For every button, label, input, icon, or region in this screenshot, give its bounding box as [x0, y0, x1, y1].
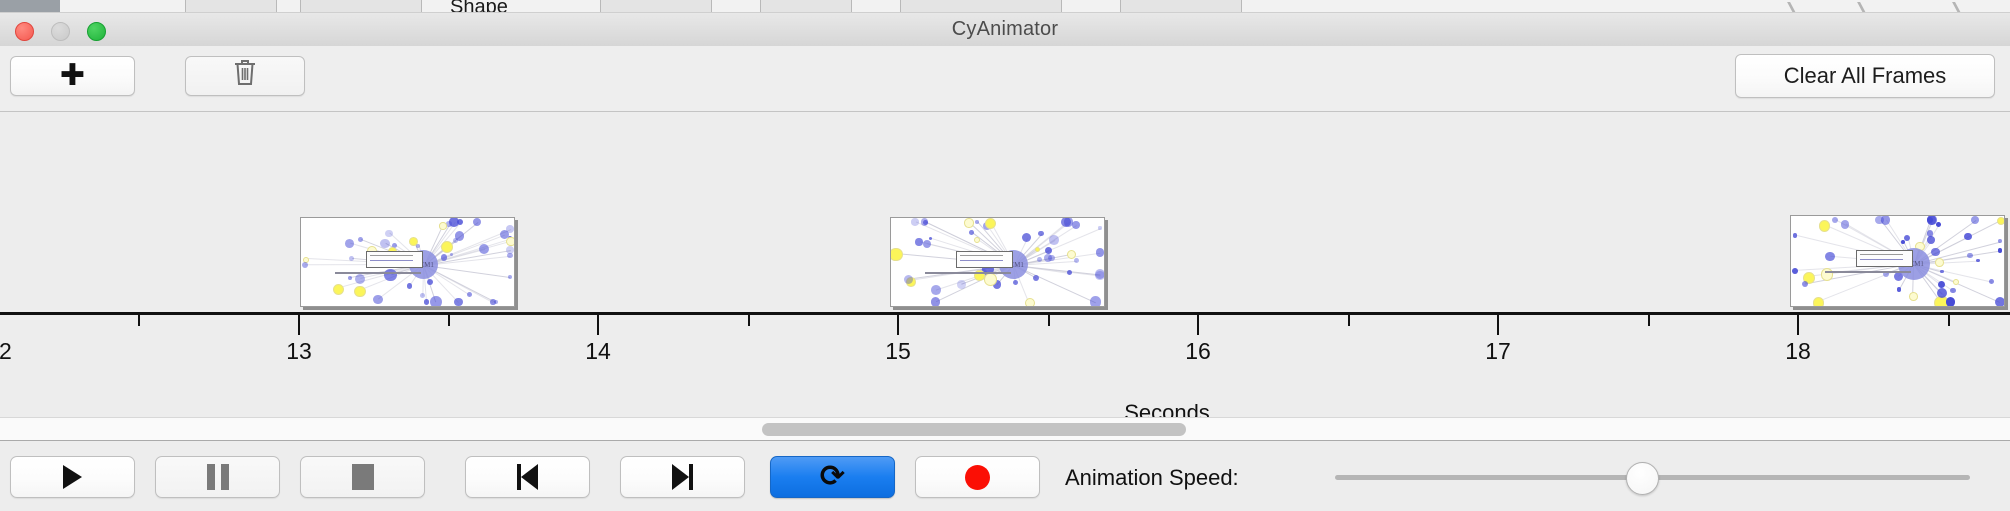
network-node — [1998, 239, 2002, 243]
network-node — [1946, 297, 1956, 307]
network-node — [1938, 281, 1945, 288]
network-node — [449, 217, 459, 227]
axis-title: Seconds — [0, 400, 2010, 417]
record-button[interactable] — [915, 456, 1040, 498]
playback-control-bar: ⟳ Animation Speed: — [0, 440, 2010, 511]
network-node — [964, 218, 973, 227]
network-node — [923, 240, 931, 248]
frame-annotation-text-line — [370, 255, 413, 256]
network-node — [424, 299, 429, 304]
timeline-axis — [0, 312, 2010, 315]
background-window-strip: Shape — [0, 0, 2010, 13]
delete-frame-button[interactable] — [185, 56, 305, 96]
network-node — [506, 237, 515, 246]
timeline-scrollbar-thumb[interactable] — [762, 423, 1186, 436]
title-bar: CyAnimator — [0, 13, 2010, 47]
animation-speed-slider-thumb[interactable] — [1626, 462, 1659, 495]
timeline-scrollbar[interactable] — [0, 417, 2010, 441]
network-node — [1096, 248, 1105, 257]
axis-tick-label: 12 — [0, 338, 12, 365]
network-node — [1935, 258, 1944, 267]
network-node — [1927, 236, 1934, 243]
axis-tick-minor — [1048, 315, 1050, 326]
network-node — [1936, 222, 1941, 227]
axis-tick-minor — [1948, 315, 1950, 326]
network-node — [380, 239, 389, 248]
prev-frame-button[interactable] — [465, 456, 590, 498]
network-node — [1997, 217, 2005, 226]
frame-annotation-text-line — [1860, 259, 1903, 260]
network-node — [1025, 298, 1035, 307]
trash-icon — [232, 58, 258, 94]
network-node — [508, 275, 513, 280]
frame-toolbar: ✚ Clear All Frames — [0, 46, 2010, 112]
network-node — [1967, 253, 1972, 258]
network-node — [430, 296, 442, 307]
network-node — [1909, 292, 1918, 301]
network-node — [1813, 297, 1824, 307]
stop-button[interactable] — [300, 456, 425, 498]
network-node — [1037, 257, 1042, 262]
network-node — [1049, 235, 1059, 245]
axis-tick-major — [597, 315, 599, 335]
axis-tick-major — [1797, 315, 1799, 335]
network-node — [1038, 231, 1044, 237]
axis-tick-minor — [448, 315, 450, 326]
network-node — [984, 273, 997, 286]
animation-speed-label: Animation Speed: — [1065, 465, 1239, 491]
network-node — [969, 230, 974, 235]
network-node — [1064, 217, 1073, 226]
frame-thumbnail[interactable]: MCM1 — [1790, 215, 2005, 307]
frame-caption-line — [1825, 271, 1911, 273]
skip-back-icon — [517, 464, 538, 490]
axis-tick-major — [298, 315, 300, 335]
axis-tick-minor — [1348, 315, 1350, 326]
network-node — [1072, 221, 1079, 228]
network-node — [1793, 233, 1798, 238]
axis-tick-label: 17 — [1485, 338, 1511, 365]
network-node — [355, 274, 365, 284]
axis-tick-minor — [138, 315, 140, 326]
loop-icon: ⟳ — [820, 463, 845, 491]
network-node — [1998, 248, 2002, 252]
network-node — [1819, 220, 1830, 231]
network-node — [345, 239, 354, 248]
next-frame-button[interactable] — [620, 456, 745, 498]
axis-tick-label: 18 — [1785, 338, 1811, 365]
network-node — [1045, 247, 1052, 254]
network-node — [975, 220, 979, 224]
network-node — [931, 285, 941, 295]
play-button[interactable] — [10, 456, 135, 498]
frame-thumbnail[interactable]: MCM1 — [890, 217, 1105, 307]
add-frame-button[interactable]: ✚ — [10, 56, 135, 96]
network-node — [974, 237, 980, 243]
network-node — [1940, 270, 1943, 273]
window-title: CyAnimator — [0, 18, 2010, 41]
network-node — [354, 286, 365, 297]
network-node — [416, 244, 420, 248]
network-node — [358, 237, 363, 242]
network-node — [479, 244, 489, 254]
record-icon — [965, 465, 990, 490]
network-node — [1989, 279, 1994, 284]
network-node — [1971, 216, 1979, 224]
network-node — [439, 222, 446, 229]
timeline-panel[interactable]: MCM1 MCM1 MCM1 Seconds 12131415161718 — [0, 112, 2010, 417]
frame-annotation-text-line — [1860, 254, 1903, 255]
network-node — [1035, 247, 1040, 252]
axis-tick-major — [1197, 315, 1199, 335]
frame-thumbnail[interactable]: MCM1 — [300, 217, 515, 307]
axis-tick-label: 16 — [1185, 338, 1211, 365]
axis-tick-minor — [1648, 315, 1650, 326]
network-node — [1931, 248, 1940, 257]
network-node — [1792, 268, 1798, 274]
pause-button[interactable] — [155, 456, 280, 498]
network-node — [1995, 297, 2005, 307]
axis-tick-minor — [748, 315, 750, 326]
network-node — [1937, 288, 1947, 298]
play-icon — [63, 465, 82, 489]
network-node — [890, 248, 903, 261]
axis-tick-major — [1497, 315, 1499, 335]
frame-annotation-text-line — [370, 260, 413, 261]
network-node — [454, 298, 463, 307]
network-node — [427, 279, 433, 285]
network-node — [1098, 226, 1101, 229]
clear-all-frames-button[interactable]: Clear All Frames — [1735, 54, 1995, 98]
axis-tick-label: 15 — [885, 338, 911, 365]
network-node — [441, 254, 447, 260]
network-node — [911, 218, 918, 225]
network-node — [453, 238, 458, 243]
axis-tick-major — [897, 315, 899, 335]
network-node — [1067, 270, 1072, 275]
network-node — [1013, 280, 1018, 285]
skip-forward-icon — [672, 464, 693, 490]
network-node — [1832, 217, 1838, 223]
network-node — [1927, 215, 1937, 225]
network-node — [467, 292, 473, 298]
network-node — [373, 295, 382, 304]
network-node — [1897, 287, 1901, 291]
plus-icon: ✚ — [60, 61, 85, 91]
frame-caption-line — [335, 272, 421, 274]
network-node — [1964, 233, 1971, 240]
network-node — [348, 276, 352, 280]
network-node — [1074, 258, 1079, 263]
network-node — [1841, 220, 1850, 229]
axis-tick-label: 14 — [585, 338, 611, 365]
network-node — [1976, 259, 1980, 263]
network-node — [1950, 288, 1956, 294]
network-node — [1044, 254, 1052, 262]
network-node — [441, 241, 453, 253]
network-node — [985, 218, 996, 229]
network-node — [407, 283, 412, 288]
network-node — [1033, 275, 1039, 281]
network-node — [333, 284, 344, 295]
network-node — [302, 262, 309, 269]
network-node — [921, 218, 928, 225]
network-node — [1090, 296, 1101, 307]
network-node — [957, 280, 965, 288]
loop-button[interactable]: ⟳ — [770, 456, 895, 498]
network-node — [506, 225, 514, 233]
network-node — [915, 238, 922, 245]
network-node — [506, 246, 514, 254]
frame-annotation-text-line — [960, 260, 1003, 261]
network-node — [490, 299, 495, 304]
frame-caption-line — [925, 272, 1011, 274]
frame-annotation-text-line — [960, 255, 1003, 256]
pause-icon — [207, 464, 229, 490]
stop-icon — [352, 464, 374, 490]
network-node — [1825, 252, 1835, 262]
network-node — [384, 269, 397, 282]
network-node — [1802, 281, 1808, 287]
network-node — [1022, 233, 1031, 242]
network-node — [385, 230, 392, 237]
network-node — [473, 218, 481, 226]
axis-tick-label: 13 — [286, 338, 312, 365]
network-node — [931, 297, 940, 306]
